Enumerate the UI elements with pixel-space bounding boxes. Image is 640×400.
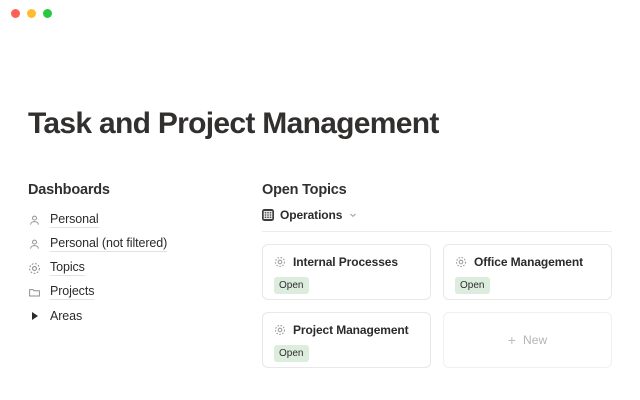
topic-icon (274, 324, 286, 336)
card-title: Project Management (293, 323, 409, 337)
new-topic-button[interactable]: + New (443, 312, 612, 368)
table-row[interactable]: Project Management Open (262, 312, 431, 368)
topic-icon (455, 256, 467, 268)
chevron-down-icon[interactable] (348, 210, 358, 220)
new-topic-label: New (523, 333, 547, 347)
status-badge: Open (455, 277, 490, 294)
tabs-divider (262, 231, 612, 232)
close-window-button[interactable] (11, 9, 20, 18)
sidebar-item-personal[interactable]: Personal (28, 208, 234, 232)
card-header: Office Management (455, 255, 600, 269)
topic-icon (274, 256, 286, 268)
open-topics-heading: Open Topics (262, 182, 612, 198)
person-icon (28, 238, 41, 251)
tab-operations[interactable]: Operations (262, 208, 358, 226)
sidebar-item-label: Personal (not filtered) (50, 236, 167, 252)
sidebar-item-projects[interactable]: Projects (28, 280, 234, 304)
page-title: Task and Project Management (28, 107, 612, 140)
folder-icon (28, 286, 41, 299)
plus-icon: + (508, 333, 516, 347)
window-titlebar (0, 0, 640, 26)
status-badge: Open (274, 277, 309, 294)
triangle-right-icon (28, 310, 41, 323)
maximize-window-button[interactable] (43, 9, 52, 18)
sidebar-item-personal-not-filtered[interactable]: Personal (not filtered) (28, 232, 234, 256)
dashboards-heading: Dashboards (28, 182, 234, 198)
minimize-window-button[interactable] (27, 9, 36, 18)
topic-icon (28, 262, 41, 275)
tab-label: Operations (280, 208, 342, 222)
sidebar-item-areas[interactable]: Areas (28, 304, 234, 328)
sidebar-item-label: Areas (50, 309, 82, 324)
topic-cards-grid: Internal Processes Open Office Managemen… (262, 244, 612, 368)
sidebar-item-label: Topics (50, 260, 85, 276)
grid-table-icon (262, 209, 274, 221)
person-icon (28, 214, 41, 227)
table-row[interactable]: Office Management Open (443, 244, 612, 300)
card-title: Internal Processes (293, 255, 398, 269)
card-header: Internal Processes (274, 255, 419, 269)
status-badge: Open (274, 345, 309, 362)
dashboards-sidebar: Dashboards Personal Personal (28, 182, 234, 328)
card-title: Office Management (474, 255, 583, 269)
card-header: Project Management (274, 323, 419, 337)
content-columns: Dashboards Personal Personal (28, 182, 612, 368)
sidebar-item-label: Projects (50, 284, 94, 300)
sidebar-item-label: Personal (50, 212, 99, 228)
sidebar-item-topics[interactable]: Topics (28, 256, 234, 280)
page-content: Task and Project Management Dashboards P… (0, 107, 640, 368)
table-row[interactable]: Internal Processes Open (262, 244, 431, 300)
view-tabs: Operations (262, 208, 612, 226)
open-topics-panel: Open Topics Operations (234, 182, 612, 368)
